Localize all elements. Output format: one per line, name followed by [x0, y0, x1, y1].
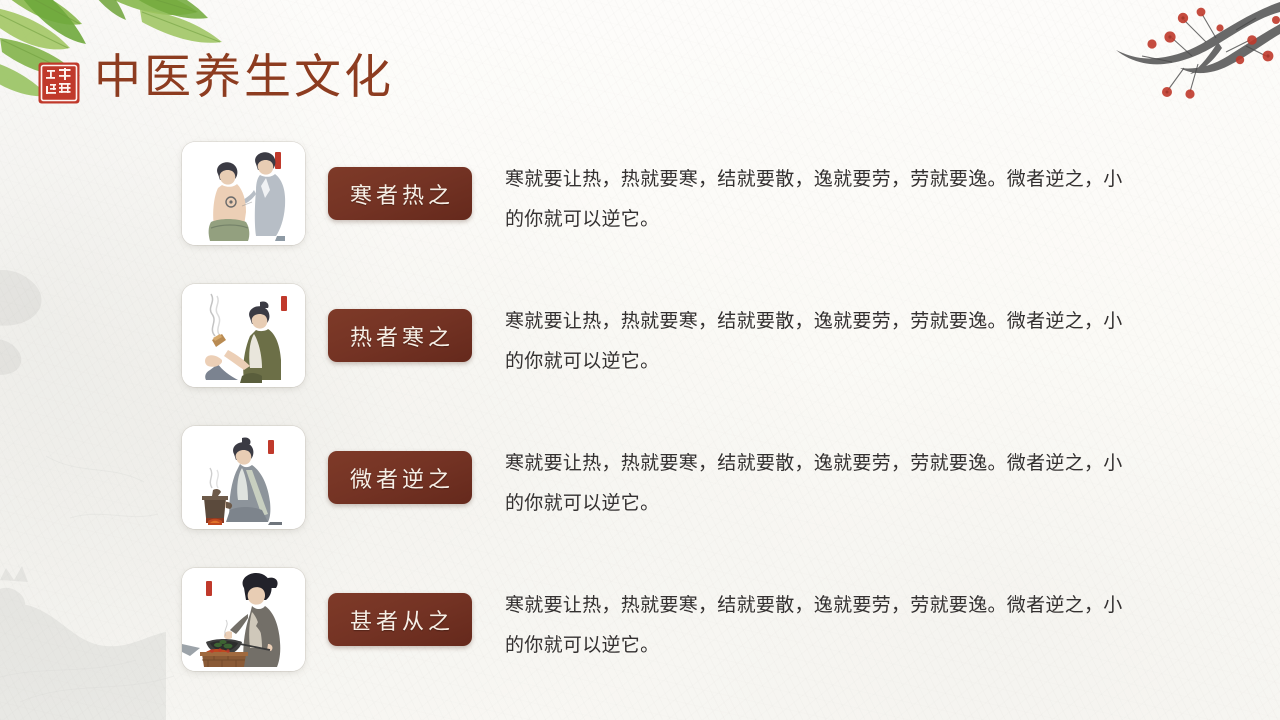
row-badge-label: 微者逆之 [346, 462, 454, 494]
thumbnail-card[interactable] [182, 426, 305, 529]
slide-canvas: 中医养生文化 [0, 0, 1280, 720]
seal-stamp-icon [38, 62, 80, 104]
content-row: 寒者热之 寒就要让热，热就要寒，结就要散，逸就要劳，劳就要逸。微者逆之，小的你就… [0, 134, 1280, 276]
herb-roasting-preparation-illustration [182, 568, 305, 671]
thumbnail-card[interactable] [182, 142, 305, 245]
row-badge[interactable]: 热者寒之 [328, 309, 472, 362]
title-block: 中医养生文化 [38, 52, 394, 104]
content-row: 微者逆之 寒就要让热，热就要寒，结就要散，逸就要劳，劳就要逸。微者逆之，小的你就… [0, 418, 1280, 560]
row-description: 寒就要让热，热就要寒，结就要散，逸就要劳，劳就要逸。微者逆之，小的你就可以逆它。 [505, 586, 1135, 666]
content-row: 热者寒之 寒就要让热，热就要寒，结就要散，逸就要劳，劳就要逸。微者逆之，小的你就… [0, 276, 1280, 418]
row-badge-label: 甚者从之 [346, 604, 454, 636]
row-description: 寒就要让热，热就要寒，结就要散，逸就要劳，劳就要逸。微者逆之，小的你就可以逆它。 [505, 302, 1135, 382]
row-description: 寒就要让热，热就要寒，结就要散，逸就要劳，劳就要逸。微者逆之，小的你就可以逆它。 [505, 444, 1135, 524]
plum-blossom-branch-decoration [1080, 0, 1280, 128]
row-description: 寒就要让热，热就要寒，结就要散，逸就要劳，劳就要逸。微者逆之，小的你就可以逆它。 [505, 160, 1135, 240]
moxibustion-therapy-illustration [182, 284, 305, 387]
thumbnail-card[interactable] [182, 284, 305, 387]
row-badge[interactable]: 甚者从之 [328, 593, 472, 646]
row-badge[interactable]: 寒者热之 [328, 167, 472, 220]
row-badge-label: 热者寒之 [346, 320, 454, 352]
page-title: 中医养生文化 [94, 55, 394, 102]
row-badge[interactable]: 微者逆之 [328, 451, 472, 504]
acupuncture-treatment-illustration [182, 142, 305, 245]
thumbnail-card[interactable] [182, 568, 305, 671]
content-row: 甚者从之 寒就要让热，热就要寒，结就要散，逸就要劳，劳就要逸。微者逆之，小的你就… [0, 560, 1280, 702]
herb-decoction-brewing-illustration [182, 426, 305, 529]
row-badge-label: 寒者热之 [346, 178, 454, 210]
content-rows: 寒者热之 寒就要让热，热就要寒，结就要散，逸就要劳，劳就要逸。微者逆之，小的你就… [0, 134, 1280, 702]
